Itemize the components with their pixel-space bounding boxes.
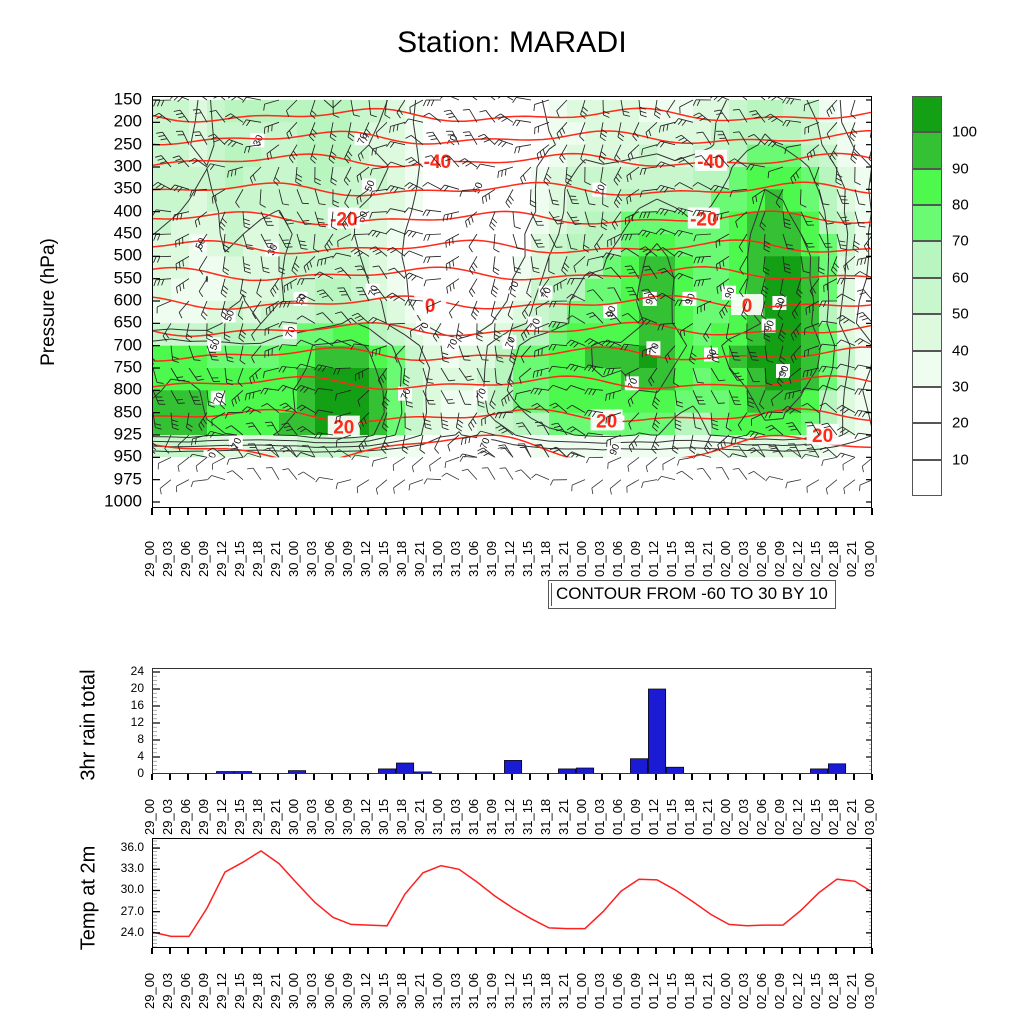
humidity-cell — [171, 390, 190, 413]
x-axis-time-label: 30_00 — [287, 773, 301, 835]
wind-barb-feather — [464, 360, 470, 361]
humidity-cell — [621, 167, 640, 190]
humidity-cell — [279, 346, 298, 369]
colorbar-cell[interactable] — [912, 96, 942, 132]
x-axis-time-label: 02_12 — [791, 773, 805, 835]
wind-barb-feather — [871, 133, 872, 137]
x-tick — [151, 508, 152, 515]
x-tick — [871, 508, 872, 515]
humidity-cell — [477, 301, 496, 324]
x-axis-time-label: 31_03 — [449, 773, 463, 835]
wind-barb-feather — [176, 400, 183, 401]
contour-legend: CONTOUR FROM -60 TO 30 BY 10 — [548, 580, 836, 609]
colorbar-cell[interactable] — [912, 205, 942, 241]
humidity-cell — [783, 122, 802, 145]
wind-barb-feather — [772, 97, 777, 100]
colorbar-tick-label: 60 — [952, 270, 969, 285]
x-tick — [367, 508, 368, 515]
humidity-cell — [765, 145, 784, 168]
humidity-cell — [225, 390, 244, 413]
x-axis-time-label: 30_15 — [377, 773, 391, 835]
humidity-contour-segment — [621, 442, 639, 443]
x-axis-time-label: 29_09 — [197, 773, 211, 835]
x-axis-time-label: 30_09 — [341, 515, 355, 577]
humidity-cell — [261, 189, 280, 212]
humidity-cell — [549, 122, 568, 145]
humidity-cell — [477, 234, 496, 257]
x-tick — [619, 508, 620, 515]
colorbar-tick-label: 70 — [952, 234, 969, 249]
humidity-cell — [297, 189, 316, 212]
colorbar-cell[interactable] — [912, 460, 942, 496]
x-tick — [835, 508, 836, 515]
wind-barb-feather — [752, 360, 758, 361]
temperature-contour-label: 0 — [742, 296, 753, 317]
humidity-cell — [315, 100, 334, 123]
humidity-cell — [729, 145, 748, 168]
humidity-cell — [153, 346, 172, 369]
x-axis-time-label: 30_06 — [323, 947, 337, 1009]
humidity-cell — [207, 167, 226, 190]
humidity-cell — [855, 346, 872, 369]
humidity-cell — [675, 413, 694, 436]
x-axis-time-label: 31_00 — [431, 515, 445, 577]
x-axis-time-label: 29_12 — [215, 773, 229, 835]
temperature-contour-label: -20 — [330, 210, 357, 231]
wind-barb-feather — [642, 351, 643, 358]
x-axis-time-label: 02_06 — [755, 773, 769, 835]
wind-barb-feather — [393, 465, 394, 471]
x-axis-time-label: 01_15 — [665, 773, 679, 835]
x-axis-time-label: 01_12 — [647, 773, 661, 835]
humidity-cell — [369, 122, 388, 145]
rain-tick-label: 8 — [137, 733, 144, 745]
x-axis-time-label: 29_06 — [179, 947, 193, 1009]
x-tick — [655, 508, 656, 515]
x-tick — [223, 508, 224, 515]
colorbar-cell[interactable] — [912, 278, 942, 314]
x-axis-time-label: 31_06 — [467, 515, 481, 577]
main-x-axis-labels: 29_0029_0329_0629_0929_1229_1529_1829_21… — [152, 515, 872, 577]
humidity-cell — [801, 189, 820, 212]
x-tick — [169, 508, 170, 515]
humidity-cell — [297, 390, 316, 413]
x-axis-time-label: 29_03 — [161, 515, 175, 577]
humidity-cell — [351, 234, 370, 257]
pressure-tick-label: 700 — [114, 336, 142, 353]
humidity-cell — [765, 413, 784, 436]
x-axis-time-label: 01_15 — [665, 947, 679, 1009]
rain-bar — [648, 689, 665, 774]
x-tick — [205, 508, 206, 515]
humidity-cell — [243, 323, 262, 346]
humidity-cell — [549, 167, 568, 190]
humidity-cell — [423, 212, 442, 235]
x-axis-time-label: 29_21 — [269, 947, 283, 1009]
humidity-cell — [675, 368, 694, 391]
wind-barb-feather — [809, 306, 810, 313]
rain-tick-label: 20 — [131, 682, 144, 694]
temperature-contour-label: -40 — [697, 152, 724, 173]
x-axis-time-label: 29_15 — [233, 947, 247, 1009]
rain-tick-label: 24 — [131, 665, 144, 677]
colorbar-cell[interactable] — [912, 169, 942, 205]
x-axis-time-label: 02_03 — [737, 947, 751, 1009]
x-tick — [313, 508, 314, 515]
wind-barb-shaft — [770, 97, 783, 100]
x-axis-time-label: 01_21 — [701, 515, 715, 577]
x-axis-time-label: 30_12 — [359, 773, 373, 835]
colorbar-tick-label: 20 — [952, 416, 969, 431]
x-axis-time-label: 30_00 — [287, 947, 301, 1009]
x-tick — [601, 508, 602, 515]
humidity-cell — [189, 390, 208, 413]
humidity-cell — [243, 279, 262, 302]
x-axis-time-label: 02_00 — [719, 515, 733, 577]
x-axis-time-label: 02_03 — [737, 773, 751, 835]
x-axis-time-label: 30_09 — [341, 947, 355, 1009]
x-axis-time-label: 01_00 — [575, 947, 589, 1009]
x-axis-time-label: 30_03 — [305, 515, 319, 577]
wind-barb-feather — [860, 485, 861, 491]
humidity-contour-segment — [315, 452, 333, 453]
wind-barb-feather — [561, 282, 562, 288]
humidity-cell — [801, 100, 820, 123]
pressure-tick-label: 550 — [114, 269, 142, 286]
humidity-cell — [765, 100, 784, 123]
x-axis-time-label: 01_09 — [629, 773, 643, 835]
wind-barb-feather — [446, 241, 447, 247]
x-axis-time-label: 01_00 — [575, 515, 589, 577]
humidity-cell — [765, 256, 784, 279]
pressure-tick-label: 450 — [114, 225, 142, 242]
humidity-cell — [729, 390, 748, 413]
humidity-contour-segment — [747, 389, 748, 391]
humidity-cell — [225, 413, 244, 436]
colorbar-tick-label: 90 — [952, 161, 969, 176]
colorbar-tick-label: 30 — [952, 379, 969, 394]
wind-barb-shaft — [336, 368, 351, 369]
colorbar-cell[interactable] — [912, 132, 942, 168]
humidity-cell — [783, 100, 802, 123]
humidity-cell — [837, 323, 856, 346]
humidity-cell — [441, 189, 460, 212]
humidity-cell — [261, 167, 280, 190]
x-axis-time-label: 31_21 — [557, 947, 571, 1009]
colorbar-cell[interactable] — [912, 351, 942, 387]
x-axis-time-label: 02_21 — [845, 947, 859, 1009]
humidity-contour-segment — [261, 445, 279, 446]
humidity-cell — [423, 435, 442, 458]
x-axis-time-label: 02_09 — [773, 947, 787, 1009]
wind-barb-feather — [178, 403, 185, 404]
humidity-cell — [765, 212, 784, 235]
rain-plot-frame — [152, 668, 872, 774]
pressure-tick-label: 400 — [114, 202, 142, 219]
humidity-cell — [459, 100, 478, 123]
temp-plot-frame — [152, 838, 872, 948]
x-axis-time-label: 31_18 — [539, 773, 553, 835]
x-tick — [295, 508, 296, 515]
x-axis-time-label: 31_21 — [557, 515, 571, 577]
temp-panel[interactable] — [152, 838, 872, 948]
x-tick — [673, 508, 674, 515]
x-axis-time-label: 29_00 — [143, 773, 157, 835]
x-axis-time-label: 30_06 — [323, 515, 337, 577]
x-axis-time-label: 30_18 — [395, 773, 409, 835]
pressure-axis: 1502002503003504004505005506006507007508… — [62, 96, 146, 508]
humidity-cell — [189, 145, 208, 168]
humidity-cell — [549, 346, 568, 369]
pressure-tick-label: 350 — [114, 180, 142, 197]
humidity-cell — [153, 167, 172, 190]
x-axis-time-label: 31_18 — [539, 947, 553, 1009]
pressure-axis-title-label: Pressure (hPa) — [38, 238, 60, 366]
wind-barb-feather — [174, 97, 179, 100]
x-axis-time-label: 02_09 — [773, 515, 787, 577]
humidity-contour-segment — [333, 442, 351, 443]
wind-barb-shaft — [516, 97, 531, 100]
humidity-contour-segment — [549, 441, 567, 442]
wind-barb-feather — [714, 97, 719, 100]
humidity-cell — [423, 346, 442, 369]
colorbar-cell[interactable] — [912, 423, 942, 459]
humidity-cell — [783, 167, 802, 190]
x-axis-time-label: 29_12 — [215, 515, 229, 577]
humidity-cell — [459, 122, 478, 145]
x-axis-time-label: 02_03 — [737, 515, 751, 577]
humidity-cell — [513, 368, 532, 391]
wind-barb-shaft — [800, 189, 801, 204]
x-tick — [727, 508, 728, 515]
x-axis-time-label: 30_21 — [413, 515, 427, 577]
humidity-cell — [837, 279, 856, 302]
colorbar-cell[interactable] — [912, 314, 942, 350]
wind-barb-feather — [557, 284, 558, 291]
humidity-cell — [513, 122, 532, 145]
humidity-cell — [243, 189, 262, 212]
x-tick — [547, 508, 548, 515]
wind-barb-feather — [264, 127, 265, 133]
sounding-cross-section-panel[interactable]: 3070703050505050705070707070705050707070… — [152, 96, 872, 508]
temp-tick-label: 33.0 — [121, 862, 144, 874]
x-axis-time-label: 31_12 — [503, 773, 517, 835]
wind-barb-shaft — [500, 97, 513, 100]
wind-barb-feather — [357, 487, 358, 493]
x-axis-time-label: 29_00 — [143, 947, 157, 1009]
x-tick — [277, 508, 278, 515]
wind-barb-shaft — [735, 97, 747, 100]
x-axis-time-label: 01_03 — [593, 773, 607, 835]
humidity-cell — [207, 368, 226, 391]
x-axis-time-label: 29_18 — [251, 515, 265, 577]
rain-axis-title-label: 3hr rain total — [78, 669, 101, 780]
rain-bars — [216, 689, 845, 774]
x-axis-time-label: 29_00 — [143, 515, 157, 577]
humidity-cell — [153, 390, 172, 413]
x-tick — [763, 508, 764, 515]
wind-barb-feather — [716, 241, 717, 247]
x-axis-time-label: 01_03 — [593, 515, 607, 577]
humidity-cell — [423, 189, 442, 212]
x-axis-time-label: 29_03 — [161, 773, 175, 835]
x-axis-time-label: 01_03 — [593, 947, 607, 1009]
humidity-cell — [261, 100, 280, 123]
humidity-contour-segment — [189, 446, 207, 447]
rain-x-axis-labels: 29_0029_0329_0629_0929_1229_1529_1829_21… — [152, 781, 872, 835]
x-axis-time-label: 29_03 — [161, 947, 175, 1009]
humidity-cell — [837, 189, 856, 212]
page-title: Station: MARADI — [0, 26, 1024, 60]
wind-barb-feather — [214, 97, 220, 98]
temp-line-svg — [153, 839, 872, 948]
humidity-cell — [621, 435, 640, 458]
pressure-tick-label: 1000 — [104, 493, 142, 510]
x-tick — [529, 508, 530, 515]
x-axis-time-label: 29_06 — [179, 515, 193, 577]
x-axis-time-label: 30_06 — [323, 773, 337, 835]
pressure-tick-label: 250 — [114, 135, 142, 152]
wind-barb-shaft — [354, 234, 369, 235]
humidity-cell — [567, 145, 586, 168]
humidity-cell — [261, 145, 280, 168]
pressure-tick-label: 200 — [114, 113, 142, 130]
humidity-cell — [603, 279, 622, 302]
humidity-cell — [801, 234, 820, 257]
humidity-cell — [225, 212, 244, 235]
x-axis-time-label: 30_15 — [377, 515, 391, 577]
humidity-cell — [747, 122, 766, 145]
x-axis-time-label: 02_12 — [791, 515, 805, 577]
temp-y-axis: 36.033.030.027.024.0 — [100, 838, 148, 948]
x-tick — [691, 508, 692, 515]
pressure-tick-label: 750 — [114, 359, 142, 376]
humidity-cell — [783, 323, 802, 346]
pressure-tick-label: 650 — [114, 314, 142, 331]
temp-tick-label: 27.0 — [121, 905, 144, 917]
humidity-cell — [351, 100, 370, 123]
humidity-cell — [495, 256, 514, 279]
humidity-contour-segment — [207, 440, 225, 441]
colorbar-tick-label: 100 — [952, 125, 977, 140]
humidity-cell — [567, 390, 586, 413]
humidity-cell — [495, 145, 514, 168]
humidity-cell — [549, 323, 568, 346]
humidity-cell — [171, 212, 190, 235]
humidity-cell — [567, 189, 586, 212]
humidity-cell — [747, 167, 766, 190]
rain-y-axis: 24201612840 — [106, 668, 148, 774]
x-axis-time-label: 29_09 — [197, 947, 211, 1009]
x-axis-time-label: 03_00 — [863, 515, 877, 577]
humidity-cell — [567, 323, 586, 346]
humidity-cell — [711, 234, 730, 257]
x-tick — [403, 508, 404, 515]
temp-tick-label: 36.0 — [121, 841, 144, 853]
humidity-cell — [675, 167, 694, 190]
x-tick — [421, 508, 422, 515]
x-axis-time-label: 30_12 — [359, 515, 373, 577]
humidity-contour-segment — [207, 445, 225, 446]
x-tick — [187, 508, 188, 515]
humidity-cell — [495, 390, 514, 413]
humidity-cell — [837, 167, 856, 190]
x-axis-time-label: 01_18 — [683, 947, 697, 1009]
humidity-cell — [819, 390, 838, 413]
humidity-cell — [225, 145, 244, 168]
pressure-tick-label: 925 — [114, 426, 142, 443]
wind-barb-feather — [871, 152, 872, 156]
wind-barb-feather — [804, 351, 805, 357]
pressure-tick-label: 950 — [114, 448, 142, 465]
x-axis-time-label: 31_00 — [431, 947, 445, 1009]
humidity-cell — [243, 346, 262, 369]
humidity-contour-segment — [567, 442, 585, 443]
x-axis-time-label: 31_18 — [539, 515, 553, 577]
humidity-cell — [711, 390, 730, 413]
wind-barb-feather — [232, 97, 237, 100]
x-axis-time-label: 01_09 — [629, 947, 643, 1009]
humidity-cell — [513, 189, 532, 212]
x-axis-time-label: 02_06 — [755, 515, 769, 577]
x-axis-time-label: 02_21 — [845, 773, 859, 835]
x-tick — [385, 508, 386, 515]
x-axis-time-label: 02_18 — [827, 773, 841, 835]
humidity-cell — [369, 100, 388, 123]
pressure-tick-label: 150 — [114, 91, 142, 108]
x-axis-time-label: 29_09 — [197, 515, 211, 577]
colorbar-cell[interactable] — [912, 241, 942, 277]
wind-barb-feather — [813, 304, 814, 311]
x-axis-time-label: 29_18 — [251, 947, 265, 1009]
x-axis-time-label: 31_12 — [503, 947, 517, 1009]
humidity-cell — [315, 256, 334, 279]
x-axis-time-label: 01_12 — [647, 515, 661, 577]
x-axis-time-label: 02_12 — [791, 947, 805, 1009]
temperature-contour-label: 0 — [425, 296, 436, 317]
x-tick — [331, 508, 332, 515]
humidity-cell — [441, 212, 460, 235]
humidity-cell — [243, 368, 262, 391]
wind-barb-feather — [272, 125, 273, 131]
humidity-cell — [531, 189, 550, 212]
x-axis-time-label: 03_00 — [863, 947, 877, 1009]
humidity-cell — [333, 390, 352, 413]
x-axis-time-label: 02_15 — [809, 947, 823, 1009]
humidity-cell — [351, 390, 370, 413]
humidity-cell — [387, 279, 406, 302]
humidity-colorbar[interactable]: 100908070605040302010 — [912, 96, 942, 496]
rain-panel[interactable] — [152, 668, 872, 774]
humidity-cell — [333, 145, 352, 168]
humidity-cell — [657, 234, 676, 257]
colorbar-cell[interactable] — [912, 387, 942, 423]
x-axis-time-label: 30_03 — [305, 947, 319, 1009]
x-axis-time-label: 31_15 — [521, 515, 535, 577]
humidity-cell — [657, 390, 676, 413]
x-axis-time-label: 29_06 — [179, 773, 193, 835]
x-tick — [475, 508, 476, 515]
x-tick — [241, 508, 242, 515]
humidity-cell — [639, 435, 658, 458]
humidity-cell — [657, 413, 676, 436]
humidity-cell — [513, 167, 532, 190]
humidity-contour-segment — [243, 343, 261, 344]
humidity-cell — [621, 189, 640, 212]
x-axis-time-label: 31_21 — [557, 773, 571, 835]
x-axis-time-label: 29_18 — [251, 773, 265, 835]
humidity-cell — [477, 122, 496, 145]
